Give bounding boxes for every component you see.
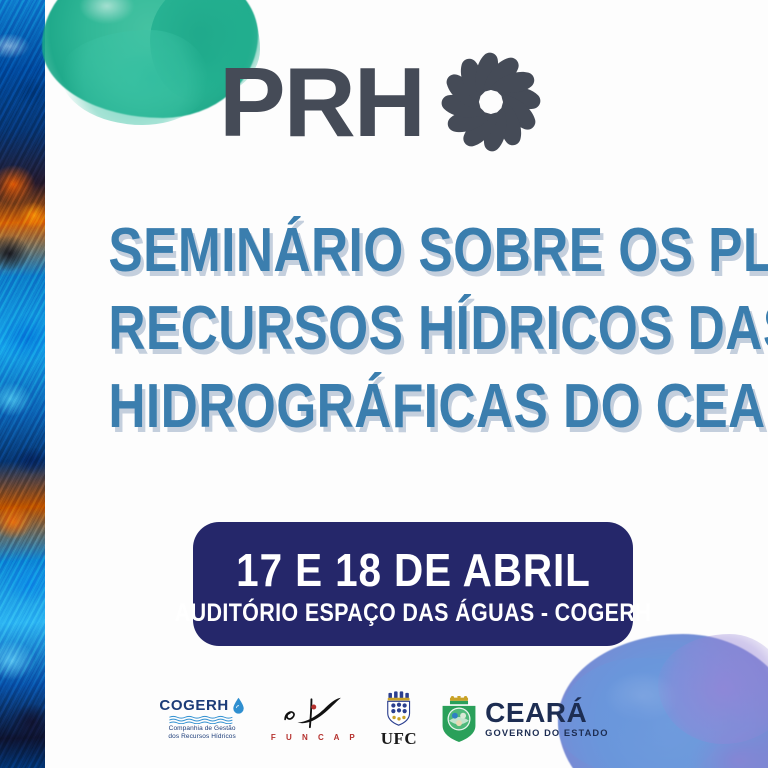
ceara-state-shield-icon (439, 696, 479, 742)
title-line-2: RECURSOS HÍDRICOS DAS REGIÕES (108, 290, 697, 368)
sponsor-logo-funcap: F U N C A P (267, 696, 359, 742)
sponsor-logo-ufc: UFC (381, 690, 417, 749)
sponsor-logo-row: COGERH Companhia de Gestão dos Recursos … (0, 688, 768, 750)
cogerh-tagline-line-2: dos Recursos Hídricos (168, 733, 235, 741)
waves-icon (165, 715, 239, 724)
ufc-wordmark: UFC (381, 729, 417, 749)
poster-canvas: PRH SEM (0, 0, 768, 768)
prh-wordmark: PRH (219, 60, 424, 144)
sponsor-logo-cogerh: COGERH Companhia de Gestão dos Recursos … (159, 697, 244, 740)
water-drop-icon (232, 697, 245, 714)
title-line-3: HIDROGRÁFICAS DO CEARÁ (108, 368, 697, 446)
event-date: 17 E 18 DE ABRIL (236, 544, 591, 596)
cogerh-wordmark: COGERH (159, 697, 228, 714)
swirl-pinwheel-icon (435, 46, 547, 158)
ceara-lockup: CEARÁ GOVERNO DO ESTADO (485, 699, 608, 738)
date-venue-banner: 17 E 18 DE ABRIL AUDITÓRIO ESPAÇO DAS ÁG… (193, 522, 633, 646)
cogerh-tagline-line-1: Companhia de Gestão (169, 725, 236, 733)
cogerh-lockup: COGERH (159, 697, 244, 714)
funcap-wordmark: F U N C A P (267, 733, 359, 742)
sponsor-logo-ceara: CEARÁ GOVERNO DO ESTADO (439, 696, 608, 742)
event-venue: AUDITÓRIO ESPAÇO DAS ÁGUAS - COGERH (175, 598, 651, 628)
poster-title: SEMINÁRIO SOBRE OS PLANOS DOS RECURSOS H… (48, 212, 758, 446)
prh-logo: PRH (0, 46, 768, 158)
ufc-crest-icon (382, 690, 416, 728)
title-line-1: SEMINÁRIO SOBRE OS PLANOS DOS (108, 212, 697, 290)
ceara-wordmark: CEARÁ (485, 699, 608, 727)
funcap-brushstroke-icon (282, 696, 344, 732)
ceara-subtitle: GOVERNO DO ESTADO (485, 729, 608, 738)
